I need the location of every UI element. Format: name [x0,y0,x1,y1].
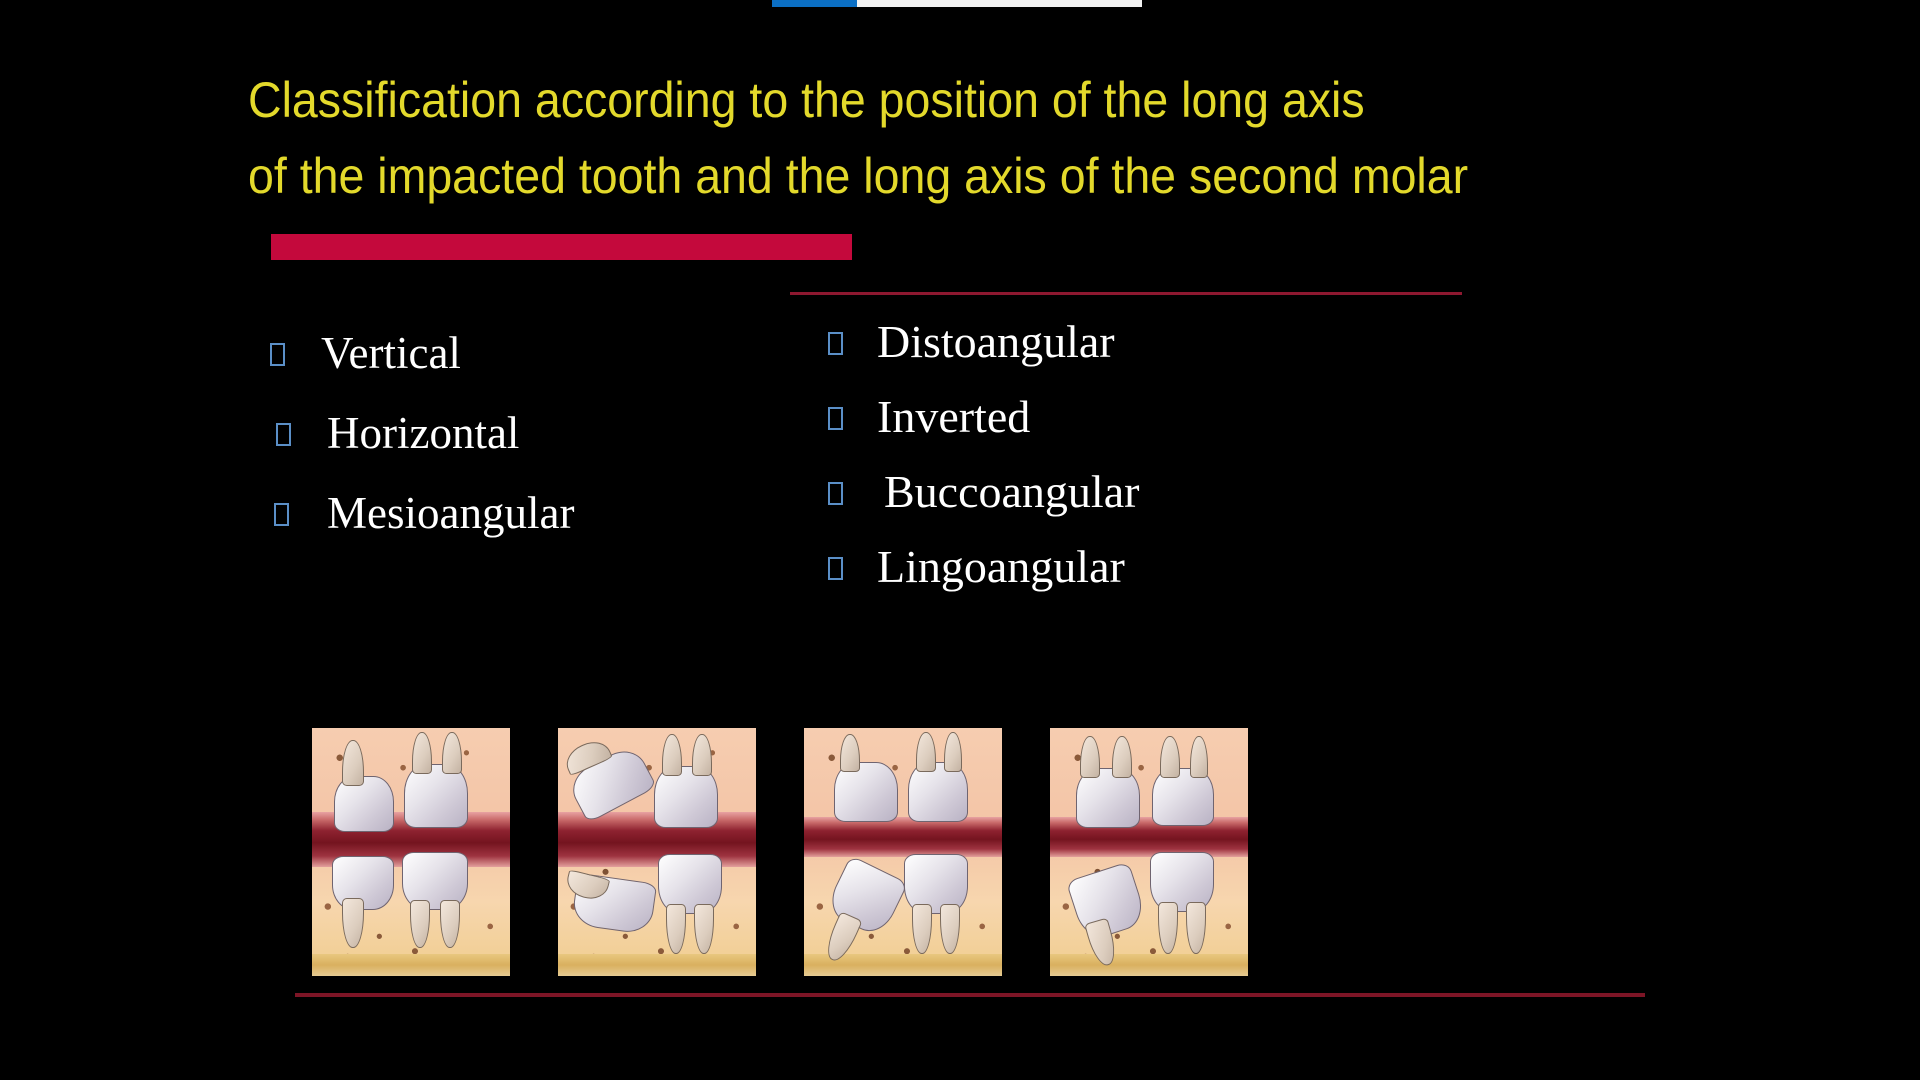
list-item[interactable]: Buccoangular [828,468,1448,516]
slide-title: Classification according to the position… [248,62,1668,214]
empty-box-bullet-icon [276,423,291,446]
empty-box-bullet-icon [828,332,843,355]
list-item-label: Lingoangular [877,543,1125,591]
list-item[interactable]: Mesioangular [270,490,790,536]
progress-blue-segment [772,0,857,7]
list-item-label: Distoangular [877,318,1115,366]
impaction-illustration-2 [558,728,756,976]
top-progress-bar[interactable] [772,0,1142,7]
footer-divider [295,993,1645,997]
list-item[interactable]: Lingoangular [828,543,1448,591]
list-item-label: Horizontal [327,410,519,456]
bullet-column-right: Distoangular Inverted Buccoangular Lingo… [828,318,1448,618]
list-item-label: Inverted [877,393,1030,441]
empty-box-bullet-icon [828,482,843,505]
list-item[interactable]: Distoangular [828,318,1448,366]
empty-box-bullet-icon [828,557,843,580]
bullet-column-left: Vertical Horizontal Mesioangular [270,330,790,570]
title-accent-bar [271,234,852,260]
cortical-band [558,954,756,976]
list-item[interactable]: Horizontal [270,410,790,456]
impaction-illustration-4 [1050,728,1248,976]
impaction-illustration-3 [804,728,1002,976]
empty-box-bullet-icon [270,343,285,366]
list-item[interactable]: Inverted [828,393,1448,441]
right-column-divider [790,292,1462,295]
progress-white-segment [857,0,1142,7]
cortical-band [1050,954,1248,976]
list-item-label: Buccoangular [884,468,1139,516]
cortical-band [312,954,510,976]
list-item[interactable]: Vertical [270,330,790,376]
list-item-label: Mesioangular [327,490,574,536]
title-line-1: Classification according to the position… [248,62,1569,138]
empty-box-bullet-icon [828,407,843,430]
presentation-slide: Classification according to the position… [0,0,1920,1080]
gum-band [804,817,1002,857]
empty-box-bullet-icon [274,503,289,526]
list-item-label: Vertical [321,330,461,376]
title-line-2: of the impacted tooth and the long axis … [248,138,1569,214]
illustration-strip [312,728,1248,976]
impaction-illustration-1 [312,728,510,976]
